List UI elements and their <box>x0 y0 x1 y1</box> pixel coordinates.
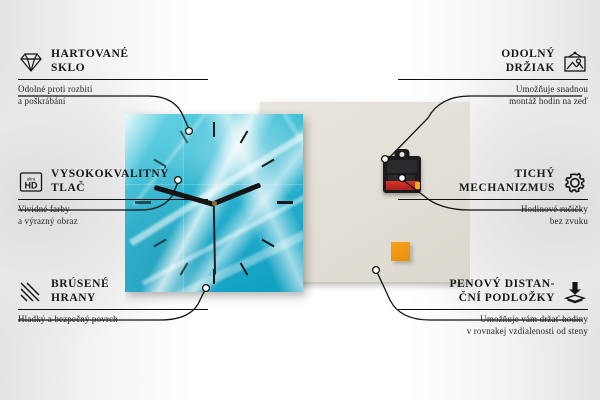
clock-center-cap <box>212 201 217 206</box>
feature-header: BRÚSENÉ HRANY <box>18 278 208 305</box>
divider <box>398 309 588 310</box>
feature-subtitle-line2: v rovnakej vzdialenosti od steny <box>398 326 588 338</box>
feature-subtitle-line2: montáž hodin na zeď <box>398 96 588 108</box>
diamond-icon <box>18 50 44 74</box>
divider <box>18 199 208 200</box>
feature-subtitle-line1: Umožňuje snadnou <box>398 84 588 96</box>
feature-title: ODOLNÝ DRŽIAK <box>501 48 555 75</box>
divider <box>18 79 208 80</box>
feature-subtitle-line2: a výrazný obraz <box>18 216 208 228</box>
feature-header: PENOVÝ DISTAN- ČNÍ PODLOŽKY <box>398 278 588 305</box>
foam-spacer-pad-photo <box>391 242 410 261</box>
feature-subtitle-line2: bez zvuku <box>398 216 588 228</box>
diagonal-lines-icon <box>18 280 44 304</box>
feature-silent-mechanism: TICHÝ MECHANIZMUS Hodinové ručičky bez z… <box>398 168 588 227</box>
feature-subtitle-line1: Hodinové ručičky <box>398 204 588 216</box>
ultra-hd-badge-icon: ultra HD <box>18 170 44 194</box>
divider <box>18 309 208 310</box>
feature-title: VYSOKOKVALITNÝ TLAČ <box>51 168 169 195</box>
svg-text:HD: HD <box>25 180 38 190</box>
feature-header: HARTOVANÉ SKLO <box>18 48 208 75</box>
feature-title: BRÚSENÉ HRANY <box>51 278 109 305</box>
feature-subtitle-line2: a poškrábání <box>18 96 208 108</box>
feature-subtitle-line1: Vividné farby <box>18 204 208 216</box>
hanging-picture-frame-icon <box>562 50 588 74</box>
feature-durable-holder: ODOLNÝ DRŽIAK Umožňuje snadnou montáž ho… <box>398 48 588 107</box>
feature-header: ultra HD VYSOKOKVALITNÝ TLAČ <box>18 168 208 195</box>
feature-subtitle-line1: Umožňuje vám držať hodiny <box>398 314 588 326</box>
feature-tempered-glass: HARTOVANÉ SKLO Odolné proti rozbití a po… <box>18 48 208 107</box>
feature-header: ODOLNÝ DRŽIAK <box>398 48 588 75</box>
clock-tick <box>213 122 215 137</box>
feature-title: TICHÝ MECHANIZMUS <box>459 168 555 195</box>
feature-foam-spacers: PENOVÝ DISTAN- ČNÍ PODLOŽKY Umožňuje vám… <box>398 278 588 337</box>
feature-ground-edges: BRÚSENÉ HRANY Hladký a bezpečný povrch <box>18 278 208 326</box>
feature-title: PENOVÝ DISTAN- ČNÍ PODLOŽKY <box>449 278 555 305</box>
feature-subtitle-line1: Odolné proti rozbití <box>18 84 208 96</box>
clock-tick <box>277 201 293 204</box>
feature-header: TICHÝ MECHANIZMUS <box>398 168 588 195</box>
divider <box>398 199 588 200</box>
feature-subtitle-line1: Hladký a bezpečný povrch <box>18 314 208 326</box>
gear-icon <box>562 170 588 194</box>
infographic-canvas: HARTOVANÉ SKLO Odolné proti rozbití a po… <box>0 0 600 400</box>
feature-high-quality-print: ultra HD VYSOKOKVALITNÝ TLAČ Vividné far… <box>18 168 208 227</box>
mechanism-hanger-tab <box>395 149 410 158</box>
divider <box>398 79 588 80</box>
press-down-layers-icon <box>562 280 588 304</box>
feature-title: HARTOVANÉ SKLO <box>51 48 129 75</box>
